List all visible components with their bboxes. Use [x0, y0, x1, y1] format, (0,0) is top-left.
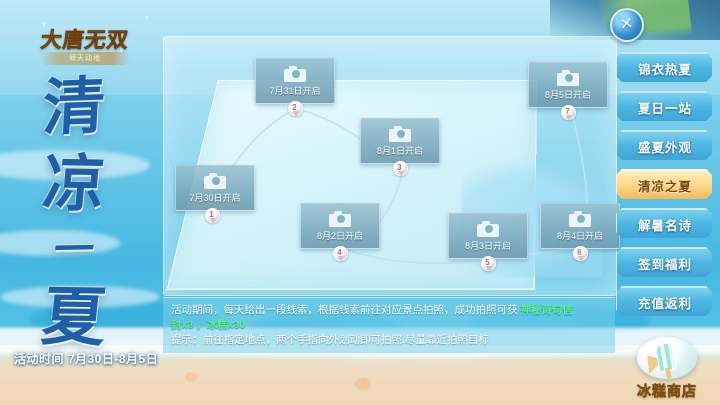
camera-icon: [557, 70, 579, 86]
photo-spot-label: 8月2日开启: [317, 229, 363, 242]
event-title-char-3: 一: [52, 232, 95, 269]
sidebar-item-1[interactable]: 锦衣热夏: [616, 52, 714, 84]
map-marker[interactable]: 5: [481, 256, 494, 273]
photo-spot-card[interactable]: 7月30日开启: [175, 165, 255, 211]
camera-icon: [329, 211, 351, 227]
paper-plane-icon[interactable]: ✕: [610, 8, 644, 42]
shop-button-label: 冰糕商店: [637, 381, 697, 401]
description-panel: 活动期间，每天给出一段线索，根据线索前往对应景点拍照，成功拍照可获 神秘诗句信 …: [163, 297, 615, 353]
game-logo-text: 大唐无双: [39, 24, 130, 54]
camera-icon: [477, 221, 499, 237]
paper-plane-glyph: ✕: [619, 16, 635, 34]
map-marker-number: 3: [393, 161, 406, 174]
photo-spot-label: 8月5日开启: [545, 88, 591, 101]
reward-highlight-1: 神秘诗句信: [520, 304, 573, 316]
description-line-3: 提示：前往指定地点，两个手指向外划动即可拍照.尽量靠近拍照目标: [171, 333, 607, 348]
map-marker[interactable]: 3: [393, 161, 406, 178]
map-marker[interactable]: 6: [573, 246, 586, 263]
photo-spot-card[interactable]: 7月31日开启: [255, 58, 335, 104]
description-line-1: 活动期间，每天给出一段线索，根据线索前往对应景点拍照，成功拍照可获 神秘诗句信: [171, 303, 607, 318]
sidebar-item-6[interactable]: 签到福利: [616, 247, 714, 279]
camera-icon: [389, 126, 411, 142]
photo-spot-card[interactable]: 8月4日开启: [540, 203, 620, 249]
map-marker-number: 5: [481, 256, 494, 269]
sidebar-item-2[interactable]: 夏日一站: [616, 91, 714, 123]
photo-spot-card[interactable]: 8月1日开启: [360, 118, 440, 164]
event-title-char-2: 凉: [41, 155, 108, 213]
sidebar-item-label: 解暑名诗: [638, 215, 692, 234]
photo-spot-label: 8月3日开启: [465, 239, 511, 252]
sidebar-item-7[interactable]: 充值返利: [616, 286, 714, 318]
photo-spot-label: 7月30日开启: [189, 191, 240, 204]
reward-highlight-2: 封x3 ，冰糕x30: [171, 319, 245, 331]
left-banner: 大唐无双 倾天动地 清 凉 一 夏 活动时间 7月30日-8月5日: [0, 0, 170, 405]
event-title-char-1: 清: [41, 77, 106, 136]
sidebar-item-label: 清凉之夏: [638, 176, 692, 195]
map-marker-number: 1: [205, 208, 218, 221]
map-marker-number: 6: [573, 246, 586, 259]
shop-button[interactable]: 冰糕商店: [624, 337, 710, 401]
map-marker-number: 2: [288, 101, 301, 114]
description-line-2: 封x3 ，冰糕x30: [171, 318, 607, 333]
sidebar-item-4[interactable]: 清凉之夏: [616, 169, 714, 201]
map-marker[interactable]: 1: [205, 208, 218, 225]
sidebar-item-5[interactable]: 解暑名诗: [616, 208, 714, 240]
sidebar-item-label: 锦衣热夏: [638, 59, 692, 78]
game-logo-subtitle: 倾天动地: [40, 52, 130, 65]
description-text-a: 活动期间，每天给出一段线索，根据线索前往对应景点拍照，成功拍照可获: [171, 304, 520, 316]
event-page: ᵛ ᵛ ᵛ 大唐无双 倾天动地 清 凉 一 夏 活动时间 7月30日-8月5日 …: [0, 0, 720, 405]
photo-spot-label: 7月31日开启: [269, 84, 320, 97]
sidebar-item-label: 签到福利: [638, 254, 692, 273]
photo-spot-label: 8月1日开启: [377, 144, 423, 157]
map-marker-number: 4: [333, 246, 346, 259]
sidebar-item-label: 盛夏外观: [638, 137, 692, 156]
sidebar-item-3[interactable]: 盛夏外观: [616, 130, 714, 162]
sidebar-item-label: 夏日一站: [638, 98, 692, 117]
photo-spot-card[interactable]: 8月5日开启: [528, 62, 608, 108]
starfish-icon: [355, 378, 371, 390]
activity-time: 活动时间 7月30日-8月5日: [14, 350, 164, 367]
camera-icon: [284, 66, 306, 82]
camera-icon: [204, 173, 226, 189]
photo-spot-label: 8月4日开启: [557, 229, 603, 242]
map-marker-number: 7: [561, 105, 574, 118]
event-title-char-4: 夏: [39, 289, 109, 349]
shell-icon: [185, 372, 197, 382]
camera-icon: [569, 211, 591, 227]
photo-spot-card[interactable]: 8月2日开启: [300, 203, 380, 249]
sidebar-menu: 锦衣热夏夏日一站盛夏外观清凉之夏解暑名诗签到福利充值返利: [616, 52, 716, 325]
sidebar-item-label: 充值返利: [638, 293, 692, 312]
map-marker[interactable]: 7: [561, 105, 574, 122]
event-title: 清 凉 一 夏: [14, 78, 134, 348]
map-marker[interactable]: 2: [288, 101, 301, 118]
photo-spot-card[interactable]: 8月3日开启: [448, 213, 528, 259]
map-marker[interactable]: 4: [333, 246, 346, 263]
